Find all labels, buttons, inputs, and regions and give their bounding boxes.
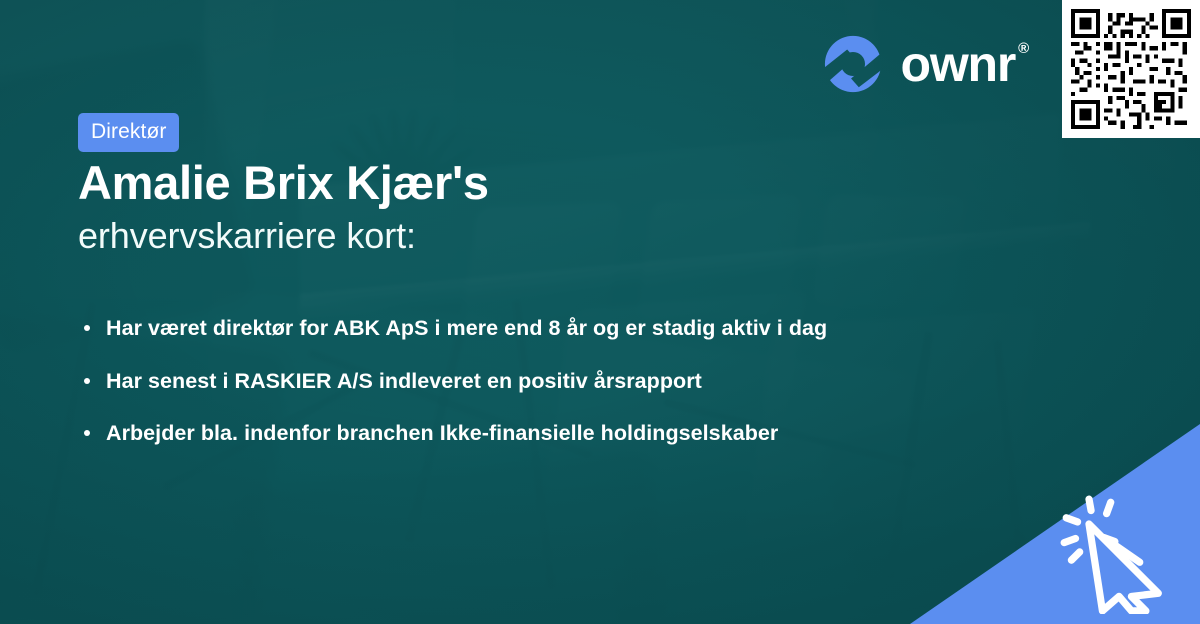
registered-trademark-icon: ®: [1018, 41, 1028, 56]
ownr-circle-swoosh-icon: [822, 33, 884, 95]
career-highlights-list: Har været direktør for ABK ApS i mere en…: [84, 312, 964, 470]
ownr-logo[interactable]: ownr ®: [822, 33, 1029, 95]
page-subtitle: erhvervskarriere kort:: [78, 213, 416, 260]
ownr-wordmark-text: ownr: [901, 39, 1016, 89]
list-item: Har været direktør for ABK ApS i mere en…: [84, 312, 964, 345]
page-title: Amalie Brix Kjær's: [78, 155, 489, 210]
role-badge: Direktør: [78, 113, 179, 152]
career-card: Direktør Amalie Brix Kjær's erhvervskarr…: [0, 0, 1200, 624]
list-item: Har senest i RASKIER A/S indleveret en p…: [84, 365, 964, 398]
list-item: Arbejder bla. indenfor branchen Ikke-fin…: [84, 417, 964, 450]
click-cursor-icon: [1056, 494, 1182, 614]
qr-code-icon: [1071, 9, 1191, 129]
qr-code[interactable]: [1062, 0, 1200, 138]
ownr-wordmark: ownr ®: [901, 39, 1029, 89]
